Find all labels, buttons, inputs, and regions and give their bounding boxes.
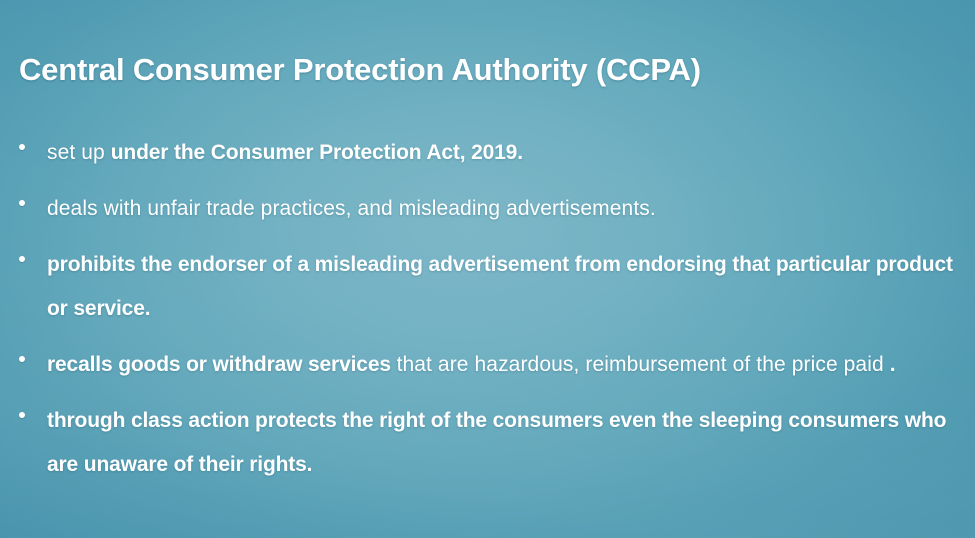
text-run: . (890, 353, 896, 376)
list-item: set up under the Consumer Protection Act… (0, 131, 975, 175)
list-item: through class action protects the right … (0, 399, 975, 487)
list-item: recalls goods or withdraw services that … (0, 343, 975, 387)
bullet-dot-icon (19, 356, 25, 362)
list-item: prohibits the endorser of a misleading a… (0, 243, 975, 331)
text-run: that are hazardous, reimbursement of the… (397, 353, 890, 376)
text-run: recalls goods or withdraw services (47, 353, 397, 376)
presentation-slide: Central Consumer Protection Authority (C… (0, 0, 975, 538)
bullet-dot-icon (19, 256, 25, 262)
text-run: under the Consumer Protection Act, 2019. (111, 141, 523, 164)
bullet-set-up: set up under the Consumer Protection Act… (47, 131, 953, 175)
text-run: set up (47, 141, 111, 164)
text-run: through class action protects the right … (47, 409, 946, 476)
bullet-recalls-goods: recalls goods or withdraw services that … (47, 343, 953, 387)
list-item: deals with unfair trade practices, and m… (0, 187, 975, 231)
text-run: deals with unfair trade practices, and m… (47, 197, 656, 220)
bullet-dot-icon (19, 412, 25, 418)
bullet-list: set up under the Consumer Protection Act… (0, 131, 975, 487)
slide-title: Central Consumer Protection Authority (C… (19, 52, 701, 88)
bullet-class-action: through class action protects the right … (47, 399, 953, 487)
bullet-unfair-trade: deals with unfair trade practices, and m… (47, 187, 953, 231)
text-run: prohibits the endorser of a misleading a… (47, 253, 953, 320)
bullet-prohibits-endorser: prohibits the endorser of a misleading a… (47, 243, 953, 331)
bullet-dot-icon (19, 200, 25, 206)
bullet-dot-icon (19, 144, 25, 150)
